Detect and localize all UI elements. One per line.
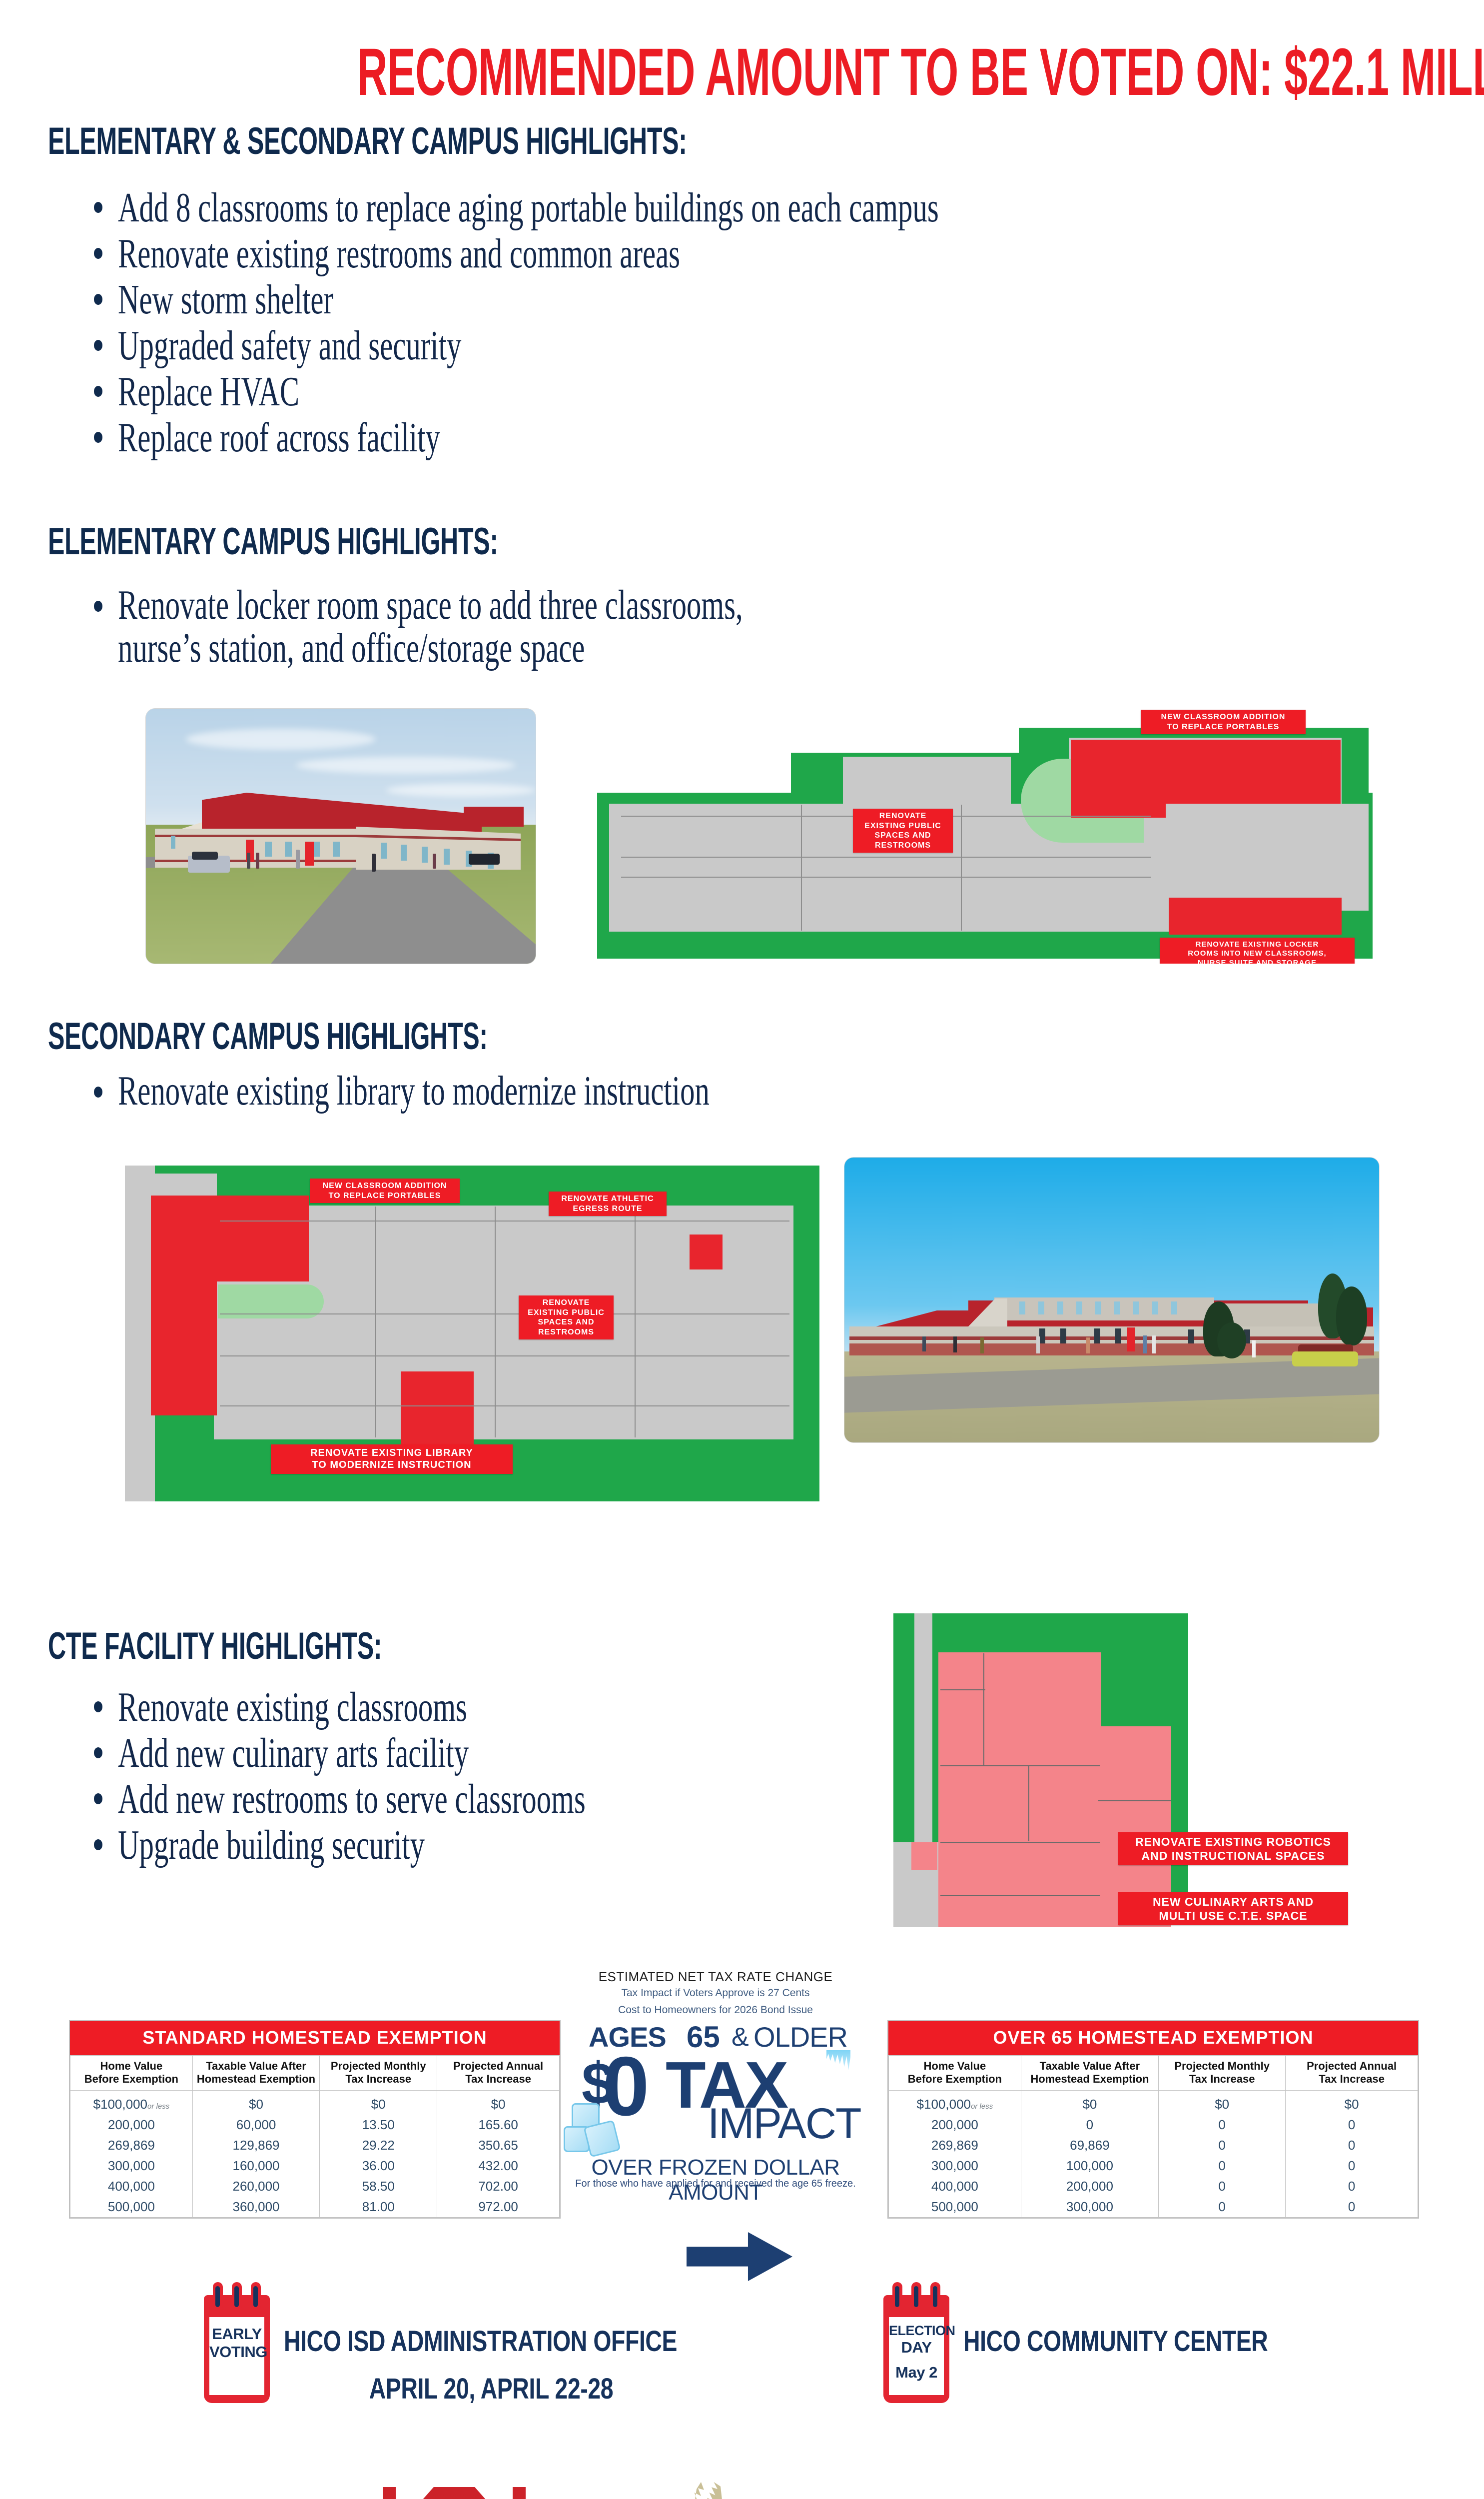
calendar-rings bbox=[883, 2282, 949, 2317]
list-item: Replace HVAC bbox=[94, 369, 1443, 415]
section-heading-elementary-secondary: ELEMENTARY & SECONDARY CAMPUS HIGHLIGHTS… bbox=[48, 122, 1016, 160]
cell-annual: $0 bbox=[1286, 2090, 1418, 2115]
bullet-list-elementary: Renovate locker room space to add three … bbox=[94, 584, 1443, 670]
cell-taxable-value: 360,000 bbox=[192, 2197, 320, 2218]
cell-home-value: 200,000 bbox=[889, 2115, 1021, 2135]
section-heading-text: CTE FACILITY HIGHLIGHTS: bbox=[48, 1627, 382, 1665]
calendar-line-2: DAY bbox=[889, 2339, 944, 2357]
election-day-calendar-icon: ELECTION DAY May 2 bbox=[883, 2282, 949, 2403]
cell-annual: 165.60 bbox=[437, 2115, 560, 2135]
bullet-dot-icon bbox=[94, 1793, 102, 1804]
cell-home-value: 300,000 bbox=[889, 2156, 1021, 2176]
cell-annual: 972.00 bbox=[437, 2197, 560, 2218]
list-item-label: nurse’s station, and office/storage spac… bbox=[118, 627, 585, 670]
list-item-label: Renovate existing classrooms bbox=[118, 1684, 467, 1730]
cell-taxable-value: 69,869 bbox=[1021, 2135, 1158, 2156]
plan-label-new-classroom-addition: NEW CLASSROOM ADDITION TO REPLACE PORTAB… bbox=[1141, 710, 1306, 734]
section-heading-text: ELEMENTARY CAMPUS HIGHLIGHTS: bbox=[48, 523, 498, 561]
cell-monthly: 81.00 bbox=[320, 2197, 437, 2218]
bullet-dot-icon bbox=[94, 386, 102, 397]
table-row: 200,000 60,000 13.50 165.60 bbox=[70, 2115, 560, 2135]
cell-taxable-value: 160,000 bbox=[192, 2156, 320, 2176]
plan-label-text: RENOVATE EXISTING ROBOTICS AND INSTRUCTI… bbox=[1135, 1835, 1331, 1862]
list-item-label: Renovate locker room space to add three … bbox=[118, 584, 743, 627]
cell-home-value: 400,000 bbox=[70, 2176, 193, 2197]
cell-taxable-value: 300,000 bbox=[1021, 2197, 1158, 2218]
plan-label-renovate-public-spaces: RENOVATE EXISTING PUBLIC SPACES AND REST… bbox=[519, 1295, 614, 1339]
list-item: New storm shelter bbox=[94, 277, 1443, 323]
list-item-label: Replace roof across facility bbox=[118, 415, 440, 461]
early-voting-details: HICO ISD ADMINISTRATION OFFICE APRIL 20,… bbox=[284, 2326, 823, 2405]
table-row: 400,000 200,000 0 0 bbox=[889, 2176, 1418, 2197]
table-over-65-homestead-exemption: OVER 65 HOMESTEAD EXEMPTION Home Value B… bbox=[888, 2021, 1418, 2218]
table-row: $100,000or less $0 $0 $0 bbox=[889, 2090, 1418, 2115]
cell-annual: 702.00 bbox=[437, 2176, 560, 2197]
list-item-label: Upgrade building security bbox=[118, 1822, 425, 1868]
calendar-line-2: VOTING bbox=[209, 2343, 264, 2361]
bullet-dot-icon bbox=[94, 601, 102, 612]
cell-annual: 350.65 bbox=[437, 2135, 560, 2156]
list-item-label: New storm shelter bbox=[118, 277, 333, 323]
calendar-body: EARLY VOTING bbox=[204, 2317, 270, 2403]
column-header: Taxable Value After Homestead Exemption bbox=[192, 2056, 320, 2091]
table-row: 269,869 129,869 29.22 350.65 bbox=[70, 2135, 560, 2156]
table-header-row: Home Value Before Exemption Taxable Valu… bbox=[70, 2056, 560, 2091]
column-header: Taxable Value After Homestead Exemption bbox=[1021, 2056, 1158, 2091]
cell-annual: 0 bbox=[1286, 2176, 1418, 2197]
government-capital-logo: GOVERNMENT CAPITAL CORPORATION bbox=[608, 2481, 802, 2499]
plan-label-renovate-robotics: RENOVATE EXISTING ROBOTICS AND INSTRUCTI… bbox=[1118, 1832, 1348, 1865]
list-item: Renovate existing library to modernize i… bbox=[94, 1070, 1443, 1113]
list-item-label: Renovate existing restrooms and common a… bbox=[118, 231, 680, 277]
cell-taxable-value: 200,000 bbox=[1021, 2176, 1158, 2197]
list-item: Replace roof across facility bbox=[94, 415, 1443, 461]
list-item-label: Renovate existing library to modernize i… bbox=[118, 1070, 710, 1113]
section-heading-text: SECONDARY CAMPUS HIGHLIGHTS: bbox=[48, 1018, 488, 1056]
cell-annual: 0 bbox=[1286, 2135, 1418, 2156]
cell-monthly: 0 bbox=[1159, 2135, 1286, 2156]
cell-monthly: 36.00 bbox=[320, 2156, 437, 2176]
hpa-logo: HPA ESTABLISHED 1962 bbox=[860, 2486, 1040, 2499]
cell-monthly: 0 bbox=[1159, 2115, 1286, 2135]
cell-home-value: 269,869 bbox=[70, 2135, 193, 2156]
elementary-campus-floorplan: NEW CLASSROOM ADDITION TO REPLACE PORTAB… bbox=[591, 709, 1389, 964]
cell-home-value: 500,000 bbox=[70, 2197, 193, 2218]
cell-taxable-value: 260,000 bbox=[192, 2176, 320, 2197]
elementary-campus-rendering bbox=[146, 709, 536, 964]
cte-facility-floorplan: RENOVATE EXISTING ROBOTICS AND INSTRUCTI… bbox=[849, 1582, 1389, 1927]
calendar-line-1: ELECTION bbox=[889, 2317, 944, 2339]
column-header: Home Value Before Exemption bbox=[889, 2056, 1021, 2091]
page-title: RECOMMENDED AMOUNT TO BE VOTED ON: $22.1… bbox=[0, 39, 1484, 106]
calendar-body: ELECTION DAY May 2 bbox=[883, 2317, 949, 2403]
table-row: 300,000 160,000 36.00 432.00 bbox=[70, 2156, 560, 2176]
cell-annual: $0 bbox=[437, 2090, 560, 2115]
plan-label-text: RENOVATE EXISTING LOCKER ROOMS INTO NEW … bbox=[1188, 940, 1326, 964]
table-row: 400,000 260,000 58.50 702.00 bbox=[70, 2176, 560, 2197]
bullet-dot-icon bbox=[94, 1701, 102, 1712]
list-item: Add 8 classrooms to replace aging portab… bbox=[94, 185, 1443, 231]
list-item-label: Add 8 classrooms to replace aging portab… bbox=[118, 185, 939, 231]
bullet-dot-icon bbox=[94, 1839, 102, 1850]
plan-label-text: NEW CLASSROOM ADDITION TO REPLACE PORTAB… bbox=[323, 1182, 447, 1200]
list-item: Upgrade building security bbox=[94, 1822, 893, 1868]
table-row: 500,000 300,000 0 0 bbox=[889, 2197, 1418, 2218]
footer-logos: HI·C·O GOVERNMENT CAPITAL CORPORATION HP… bbox=[0, 2469, 1484, 2499]
cell-home-value: $100,000or less bbox=[889, 2090, 1021, 2115]
cell-annual: 0 bbox=[1286, 2197, 1418, 2218]
calendar-line-3: May 2 bbox=[889, 2357, 944, 2382]
bullet-list-secondary: Renovate existing library to modernize i… bbox=[94, 1070, 1443, 1113]
ice-cubes-icon bbox=[564, 2103, 627, 2158]
cell-annual: 0 bbox=[1286, 2156, 1418, 2176]
word-impact: IMPACT bbox=[708, 2102, 861, 2145]
plan-label-renovate-locker-rooms: RENOVATE EXISTING LOCKER ROOMS INTO NEW … bbox=[1160, 938, 1355, 964]
hico-isd-logo: HI·C·O bbox=[372, 2479, 537, 2499]
section-heading-elementary: ELEMENTARY CAMPUS HIGHLIGHTS: bbox=[48, 523, 730, 561]
election-day-details: HICO COMMUNITY CENTER bbox=[963, 2326, 1484, 2357]
list-item: Upgraded safety and security bbox=[94, 323, 1443, 369]
plan-label-new-classroom-addition: NEW CLASSROOM ADDITION TO REPLACE PORTAB… bbox=[310, 1179, 460, 1203]
list-item: Renovate locker room space to add three … bbox=[94, 584, 1443, 627]
cell-annual: 432.00 bbox=[437, 2156, 560, 2176]
bullet-list-elementary-secondary: Add 8 classrooms to replace aging portab… bbox=[94, 185, 1443, 461]
cell-home-value: 200,000 bbox=[70, 2115, 193, 2135]
table-title: STANDARD HOMESTEAD EXEMPTION bbox=[70, 2021, 560, 2055]
cell-monthly: 13.50 bbox=[320, 2115, 437, 2135]
table: Home Value Before Exemption Taxable Valu… bbox=[70, 2055, 560, 2218]
calendar-rings bbox=[204, 2282, 270, 2317]
secondary-campus-rendering bbox=[844, 1158, 1379, 1442]
table-row: 300,000 100,000 0 0 bbox=[889, 2156, 1418, 2176]
bullet-dot-icon bbox=[94, 432, 102, 443]
cell-taxable-value: 100,000 bbox=[1021, 2156, 1158, 2176]
list-item-label: Add new restrooms to serve classrooms bbox=[118, 1776, 586, 1822]
secondary-campus-floorplan: NEW CLASSROOM ADDITION TO REPLACE PORTAB… bbox=[125, 1146, 819, 1510]
column-header: Projected Annual Tax Increase bbox=[1286, 2056, 1418, 2091]
early-voting-calendar-icon: EARLY VOTING bbox=[204, 2282, 270, 2403]
list-item: Renovate existing restrooms and common a… bbox=[94, 231, 1443, 277]
cell-taxable-value: 60,000 bbox=[192, 2115, 320, 2135]
table-standard-homestead-exemption: STANDARD HOMESTEAD EXEMPTION Home Value … bbox=[70, 2021, 560, 2218]
table-title: OVER 65 HOMESTEAD EXEMPTION bbox=[888, 2021, 1418, 2055]
list-item-label: Upgraded safety and security bbox=[118, 323, 461, 369]
tax-graphic-subline-2: Cost to Homeowners for 2026 Bond Issue bbox=[561, 2004, 870, 2016]
age-65-freeze-note: For those who have applied for and recei… bbox=[566, 2178, 865, 2190]
cell-monthly: 0 bbox=[1159, 2156, 1286, 2176]
election-day-location: HICO COMMUNITY CENTER bbox=[963, 2326, 1395, 2357]
table: Home Value Before Exemption Taxable Valu… bbox=[888, 2055, 1418, 2218]
cell-monthly: 58.50 bbox=[320, 2176, 437, 2197]
bullet-dot-icon bbox=[94, 1747, 102, 1758]
section-heading-secondary: SECONDARY CAMPUS HIGHLIGHTS: bbox=[48, 1018, 714, 1056]
bullet-dot-icon bbox=[94, 340, 102, 351]
bullet-list-cte: Renovate existing classrooms Add new cul… bbox=[94, 1684, 893, 1868]
plan-label-text: NEW CLASSROOM ADDITION TO REPLACE PORTAB… bbox=[1161, 713, 1286, 731]
plan-label-text: RENOVATE ATHLETIC EGRESS ROUTE bbox=[561, 1195, 654, 1213]
table-row: $100,000or less $0 $0 $0 bbox=[70, 2090, 560, 2115]
list-item: Add new culinary arts facility bbox=[94, 1730, 893, 1776]
tax-graphic-subline-1: Tax Impact if Voters Approve is 27 Cents bbox=[561, 1987, 870, 1999]
column-header: Projected Annual Tax Increase bbox=[437, 2056, 560, 2091]
cell-home-value: 269,869 bbox=[889, 2135, 1021, 2156]
list-item: Add new restrooms to serve classrooms bbox=[94, 1776, 893, 1822]
table-row: 269,869 69,869 0 0 bbox=[889, 2135, 1418, 2156]
plan-label-renovate-athletic-egress: RENOVATE ATHLETIC EGRESS ROUTE bbox=[549, 1192, 667, 1216]
plan-label-text: RENOVATE EXISTING PUBLIC SPACES AND REST… bbox=[528, 1298, 605, 1336]
cell-taxable-value: $0 bbox=[1021, 2090, 1158, 2115]
cell-taxable-value: 129,869 bbox=[192, 2135, 320, 2156]
plan-label-text: NEW CULINARY ARTS AND MULTI USE C.T.E. S… bbox=[1153, 1895, 1314, 1922]
early-voting-location: HICO ISD ADMINISTRATION OFFICE bbox=[284, 2326, 716, 2357]
page-title-text: RECOMMENDED AMOUNT TO BE VOTED ON: $22.1… bbox=[357, 39, 1484, 106]
table-row: 200,000 0 0 0 bbox=[889, 2115, 1418, 2135]
table-row: 500,000 360,000 81.00 972.00 bbox=[70, 2197, 560, 2218]
bullet-dot-icon bbox=[94, 294, 102, 305]
cell-home-value: 300,000 bbox=[70, 2156, 193, 2176]
list-item-label: Add new culinary arts facility bbox=[118, 1730, 469, 1776]
plan-label-renovate-public-spaces: RENOVATE EXISTING PUBLIC SPACES AND REST… bbox=[853, 809, 953, 853]
section-heading-cte: CTE FACILITY HIGHLIGHTS: bbox=[48, 1627, 554, 1665]
early-voting-dates: APRIL 20, APRIL 22-28 bbox=[325, 2374, 657, 2404]
cell-monthly: $0 bbox=[1159, 2090, 1286, 2115]
cell-monthly: $0 bbox=[320, 2090, 437, 2115]
section-heading-text: ELEMENTARY & SECONDARY CAMPUS HIGHLIGHTS… bbox=[48, 122, 687, 160]
icicle-icon bbox=[826, 2050, 850, 2070]
elk-icon bbox=[667, 2482, 742, 2499]
cell-monthly: 0 bbox=[1159, 2197, 1286, 2218]
list-item: Renovate existing classrooms bbox=[94, 1684, 893, 1730]
bullet-dot-icon bbox=[94, 1087, 102, 1098]
cell-monthly: 0 bbox=[1159, 2176, 1286, 2197]
cell-monthly: 29.22 bbox=[320, 2135, 437, 2156]
arrow-right-icon bbox=[687, 2232, 792, 2281]
table-header-row: Home Value Before Exemption Taxable Valu… bbox=[889, 2056, 1418, 2091]
column-header: Projected Monthly Tax Increase bbox=[320, 2056, 437, 2091]
bullet-dot-icon bbox=[94, 202, 102, 213]
plan-label-text: RENOVATE EXISTING LIBRARY TO MODERNIZE I… bbox=[310, 1447, 473, 1470]
plan-label-renovate-library: RENOVATE EXISTING LIBRARY TO MODERNIZE I… bbox=[271, 1444, 513, 1474]
plan-label-new-culinary-arts: NEW CULINARY ARTS AND MULTI USE C.T.E. S… bbox=[1118, 1892, 1348, 1925]
column-header: Home Value Before Exemption bbox=[70, 2056, 193, 2091]
plan-label-text: RENOVATE EXISTING PUBLIC SPACES AND REST… bbox=[864, 812, 941, 850]
estimated-net-tax-rate-graphic: ESTIMATED NET TAX RATE CHANGE Tax Impact… bbox=[561, 1969, 870, 2229]
column-header: Projected Monthly Tax Increase bbox=[1159, 2056, 1286, 2091]
hpa-wordmark: HPA bbox=[860, 2486, 1040, 2499]
cell-taxable-value: 0 bbox=[1021, 2115, 1158, 2135]
calendar-line-1: EARLY bbox=[209, 2317, 264, 2343]
cell-home-value: 400,000 bbox=[889, 2176, 1021, 2197]
cell-home-value: 500,000 bbox=[889, 2197, 1021, 2218]
bullet-dot-icon bbox=[94, 248, 102, 259]
tax-graphic-headline: ESTIMATED NET TAX RATE CHANGE bbox=[561, 1969, 870, 1985]
cell-home-value: $100,000or less bbox=[70, 2090, 193, 2115]
cell-taxable-value: $0 bbox=[192, 2090, 320, 2115]
list-item-label: Replace HVAC bbox=[118, 369, 299, 415]
list-item-continuation: nurse’s station, and office/storage spac… bbox=[94, 627, 1443, 670]
cell-annual: 0 bbox=[1286, 2115, 1418, 2135]
